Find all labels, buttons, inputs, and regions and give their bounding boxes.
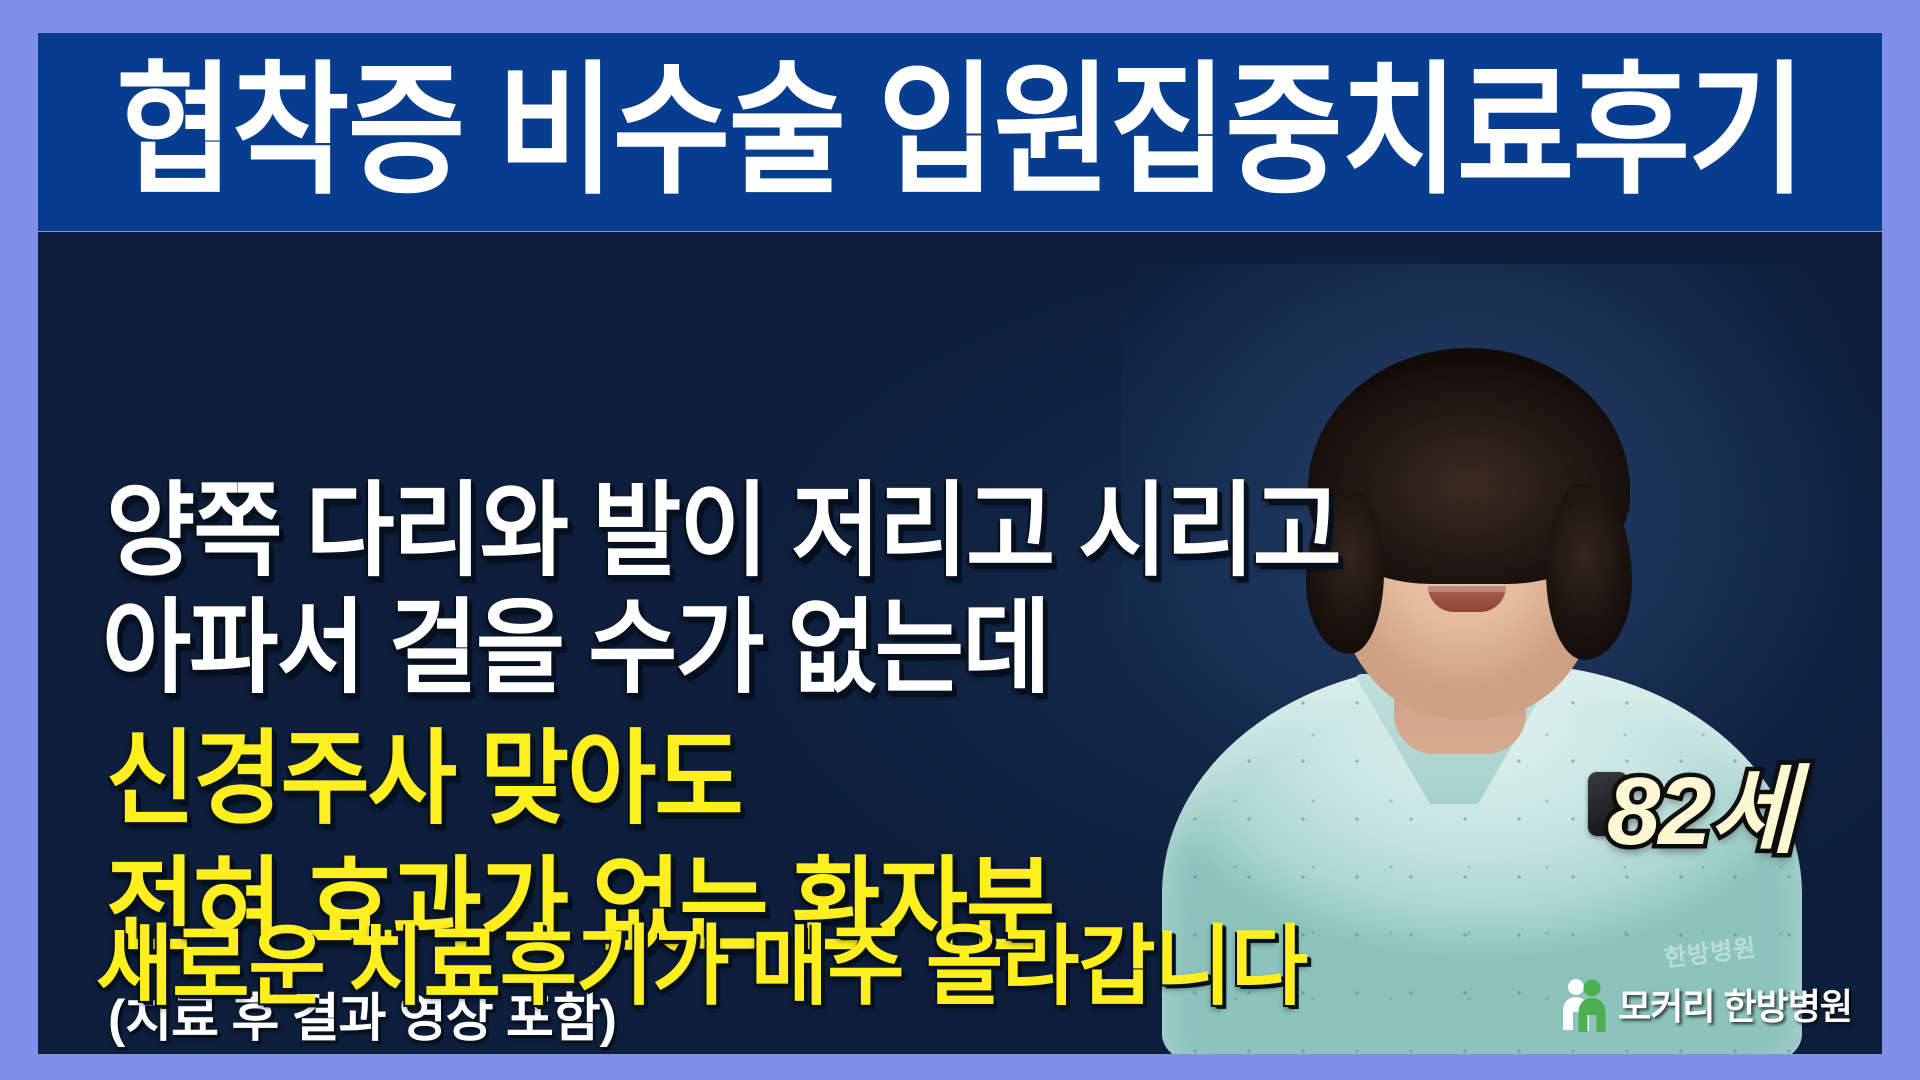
title-bar: 협착증 비수술 입원집중치료후기 — [38, 33, 1882, 231]
bottom-banner-text: 새로운 치료후기가 매주 올라갑니다 — [96, 897, 1307, 1023]
title-text: 협착증 비수술 입원집중치료후기 — [116, 60, 1804, 203]
body-panel: 한방병원 양쪽 다리와 발이 저리고 시리고 아파서 걸을 수가 없는데 신경주… — [38, 232, 1882, 1054]
headline-line-2: 아파서 걸을 수가 없는데 — [102, 595, 1390, 702]
thumbnail-canvas: 협착증 비수술 입원집중치료후기 — [0, 0, 1920, 1080]
headline-line-3: 신경주사 맞아도 — [106, 726, 1390, 833]
headline-line-1: 양쪽 다리와 발이 저리고 시리고 — [106, 478, 1390, 585]
hospital-name: 모커리 한방병원 — [1618, 978, 1852, 1030]
age-badge: 82세 — [1607, 733, 1796, 872]
hospital-logo: 모커리 한방병원 — [1560, 976, 1852, 1032]
person-logo-icon — [1560, 976, 1608, 1032]
